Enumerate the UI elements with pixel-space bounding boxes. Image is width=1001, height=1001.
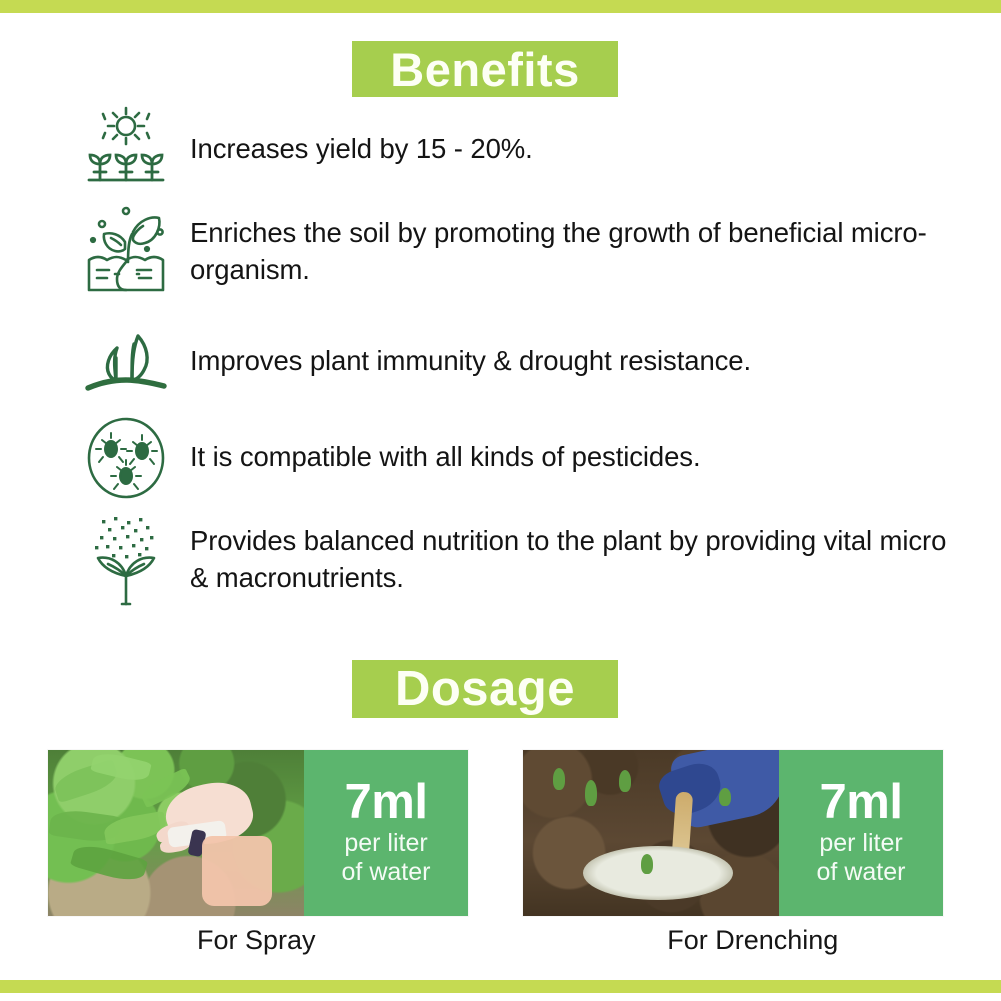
sprout-nutrients-icon: [78, 512, 174, 608]
sun-seedlings-icon: [78, 104, 174, 184]
benefits-list: Increases yield by 15 - 20%.: [0, 104, 1001, 622]
water-puddle: [583, 846, 733, 900]
top-stripe: [0, 0, 1001, 13]
dosage-amount: 7ml: [820, 778, 903, 827]
caption-for-drenching: For Drenching: [505, 925, 1001, 956]
dosage-title: Dosage: [395, 665, 575, 714]
benefit-item: Enriches the soil by promoting the growt…: [0, 202, 1001, 312]
benefit-item: Provides balanced nutrition to the plant…: [0, 512, 1001, 616]
insects-circle-icon: [78, 416, 174, 500]
infographic-page: Benefits: [0, 0, 1001, 1001]
benefit-item: Increases yield by 15 - 20%.: [0, 104, 1001, 196]
benefit-text: Increases yield by 15 - 20%.: [190, 104, 533, 167]
benefit-text: Improves plant immunity & drought resist…: [190, 318, 751, 379]
dosage-card-spray: 7ml per liter of water: [48, 750, 468, 916]
dosage-per-line2: of water: [817, 858, 906, 887]
bottom-stripe: [0, 980, 1001, 993]
benefit-text: Provides balanced nutrition to the plant…: [190, 512, 950, 597]
dosage-title-banner: Dosage: [352, 660, 618, 718]
dosage-card-drenching: 7ml per liter of water: [523, 750, 943, 916]
dosage-per-line1: per liter: [819, 829, 902, 858]
plant-in-soil-icon: [78, 202, 174, 294]
benefits-title: Benefits: [390, 46, 579, 93]
dosage-cards: 7ml per liter of water 7ml per liter of: [0, 750, 1001, 918]
benefits-title-banner: Benefits: [352, 41, 618, 97]
spray-bottle-photo: [48, 750, 304, 916]
benefit-text: Enriches the soil by promoting the growt…: [190, 202, 950, 289]
benefit-text: It is compatible with all kinds of pesti…: [190, 416, 701, 475]
dosage-panel: 7ml per liter of water: [779, 750, 943, 916]
dosage-per-line1: per liter: [344, 829, 427, 858]
dosage-captions: For Spray For Drenching: [0, 925, 1001, 956]
dosage-per-line2: of water: [342, 858, 431, 887]
dosage-amount: 7ml: [345, 778, 428, 827]
watering-can-photo: [523, 750, 779, 916]
benefit-item: It is compatible with all kinds of pesti…: [0, 416, 1001, 506]
two-leaves-icon: [78, 318, 174, 396]
caption-for-spray: For Spray: [8, 925, 505, 956]
dosage-panel: 7ml per liter of water: [304, 750, 468, 916]
spray-bottle: [202, 836, 272, 906]
benefit-item: Improves plant immunity & drought resist…: [0, 318, 1001, 410]
